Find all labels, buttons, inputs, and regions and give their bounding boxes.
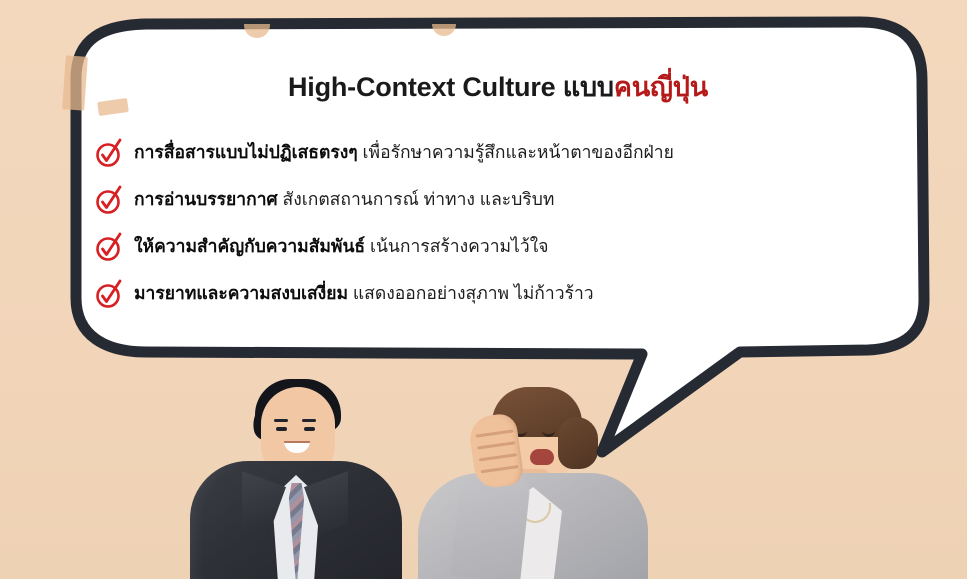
list-item-text: มารยาทและความสงบเสงี่ยม แสดงออกอย่างสุภา…: [134, 283, 594, 304]
title-accent-text: คนญี่ปุ่น: [614, 72, 708, 102]
page-title: High-Context Culture แบบคนญี่ปุ่น: [80, 34, 916, 108]
list-item-strong: มารยาทและความสงบเสงี่ยม: [134, 283, 348, 303]
circled-check-icon: [94, 136, 124, 168]
list-item-strong: การสื่อสารแบบไม่ปฏิเสธตรงๆ: [134, 142, 358, 162]
list-item-normal: สังเกตสถานการณ์ ท่าทาง และบริบท: [283, 189, 555, 209]
list-item-text: การสื่อสารแบบไม่ปฏิเสธตรงๆ เพื่อรักษาควา…: [134, 142, 674, 163]
bubble-content: High-Context Culture แบบคนญี่ปุ่น การสื่…: [80, 34, 916, 336]
list-item-text: การอ่านบรรยากาศ สังเกตสถานการณ์ ท่าทาง แ…: [134, 189, 554, 210]
list-item: ให้ความสำคัญกับความสัมพันธ์ เน้นการสร้าง…: [80, 223, 916, 270]
slide-canvas: High-Context Culture แบบคนญี่ปุ่น การสื่…: [0, 0, 967, 579]
check-list: การสื่อสารแบบไม่ปฏิเสธตรงๆ เพื่อรักษาควา…: [80, 129, 916, 317]
list-item: การอ่านบรรยากาศ สังเกตสถานการณ์ ท่าทาง แ…: [80, 176, 916, 223]
list-item: มารยาทและความสงบเสงี่ยม แสดงออกอย่างสุภา…: [80, 270, 916, 317]
list-item-strong: ให้ความสำคัญกับความสัมพันธ์: [134, 236, 365, 256]
list-item-normal: เน้นการสร้างความไว้ใจ: [370, 236, 549, 256]
circled-check-icon: [94, 183, 124, 215]
circled-check-icon: [94, 230, 124, 262]
list-item-normal: แสดงออกอย่างสุภาพ ไม่ก้าวร้าว: [353, 283, 594, 303]
list-item-strong: การอ่านบรรยากาศ: [134, 189, 278, 209]
circled-check-icon: [94, 277, 124, 309]
list-item: การสื่อสารแบบไม่ปฏิเสธตรงๆ เพื่อรักษาควา…: [80, 129, 916, 176]
list-item-text: ให้ความสำคัญกับความสัมพันธ์ เน้นการสร้าง…: [134, 236, 549, 257]
list-item-normal: เพื่อรักษาความรู้สึกและหน้าตาของอีกฝ่าย: [363, 142, 674, 162]
title-main-text: High-Context Culture แบบ: [288, 72, 614, 102]
